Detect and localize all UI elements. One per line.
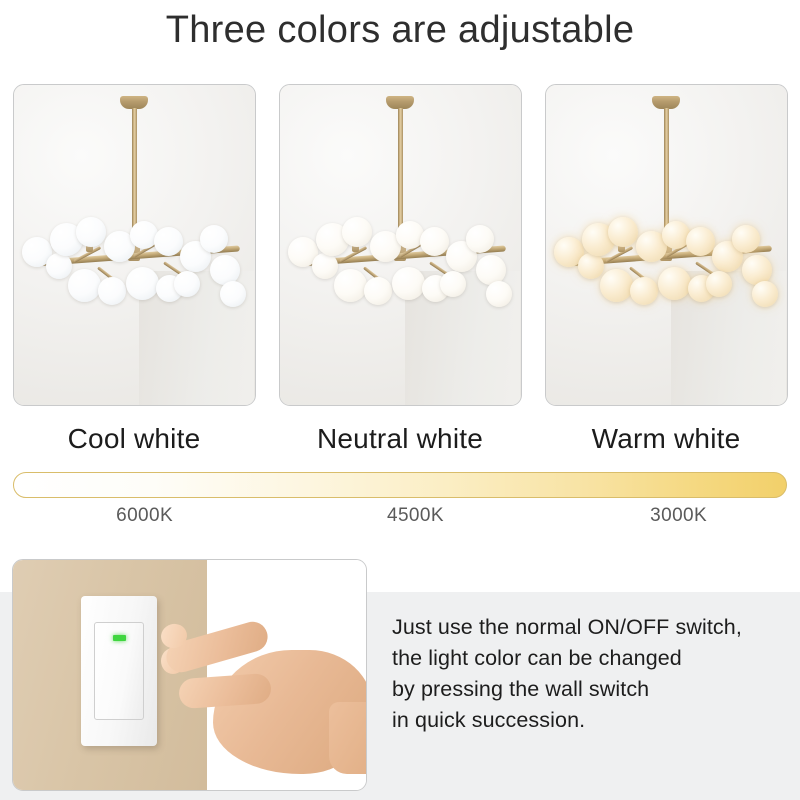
hand-illustration [161, 624, 367, 791]
chandelier-cool-white [14, 85, 255, 405]
globe-bulb [76, 217, 106, 247]
globe-bulb [342, 217, 372, 247]
drop-rod [664, 108, 669, 230]
drop-rod [398, 108, 403, 230]
wall-switch-photo[interactable] [12, 559, 367, 791]
kelvin-label-6000k: 6000K [116, 505, 173, 527]
globe-bulb [706, 271, 732, 297]
globe-bulb [126, 267, 159, 300]
description-line-4: in quick succession. [392, 705, 790, 736]
globe-bulb [154, 227, 183, 256]
globe-bulb [220, 281, 246, 307]
drop-rod [132, 108, 137, 230]
globe-bulb [630, 277, 658, 305]
kelvin-label-3000k: 3000K [650, 505, 707, 527]
caption-warm-white: Warm white [545, 416, 788, 462]
globe-bulb [686, 227, 715, 256]
led-indicator-icon [113, 635, 126, 641]
kelvin-label-row: 6000K 4500K 3000K [13, 505, 787, 529]
globe-bulb [440, 271, 466, 297]
chandelier-neutral-white [280, 85, 521, 405]
globe-bulb [312, 253, 338, 279]
globe-bulb [130, 221, 158, 249]
chandelier-warm-white [546, 85, 787, 405]
globe-bulb [658, 267, 691, 300]
description-text: Just use the normal ON/OFF switch, the l… [392, 612, 790, 736]
description-line-2: the light color can be changed [392, 643, 790, 674]
globe-bulb [364, 277, 392, 305]
globe-bulb [732, 225, 760, 253]
panel-cool-white[interactable] [13, 84, 256, 406]
globe-bulb [174, 271, 200, 297]
description-line-1: Just use the normal ON/OFF switch, [392, 612, 790, 643]
globe-bulb [334, 269, 367, 302]
color-temperature-scale: 6000K 4500K 3000K [0, 472, 800, 529]
globe-bulb [608, 217, 638, 247]
caption-neutral-white: Neutral white [279, 416, 522, 462]
rocker-switch[interactable] [94, 622, 144, 720]
globe-bulb [600, 269, 633, 302]
globe-bulb [396, 221, 424, 249]
globe-bulb [752, 281, 778, 307]
globe-bulb [392, 267, 425, 300]
caption-cool-white: Cool white [13, 416, 256, 462]
globe-bulb [662, 221, 690, 249]
switch-plate[interactable] [81, 596, 157, 746]
globe-bulb [46, 253, 72, 279]
middle-finger [178, 673, 272, 709]
globe-bulb [420, 227, 449, 256]
panel-neutral-white[interactable] [279, 84, 522, 406]
caption-row: Cool white Neutral white Warm white [0, 416, 800, 462]
globe-bulb [466, 225, 494, 253]
panel-warm-white[interactable] [545, 84, 788, 406]
kelvin-label-4500k: 4500K [387, 505, 444, 527]
globe-bulb [200, 225, 228, 253]
wrist [329, 702, 367, 774]
globe-bulb [98, 277, 126, 305]
color-panel-row [0, 84, 800, 406]
description-line-3: by pressing the wall switch [392, 674, 790, 705]
globe-bulb [486, 281, 512, 307]
globe-bulb [68, 269, 101, 302]
globe-bulb [578, 253, 604, 279]
kelvin-gradient-bar [13, 472, 787, 498]
page-title: Three colors are adjustable [0, 0, 800, 53]
